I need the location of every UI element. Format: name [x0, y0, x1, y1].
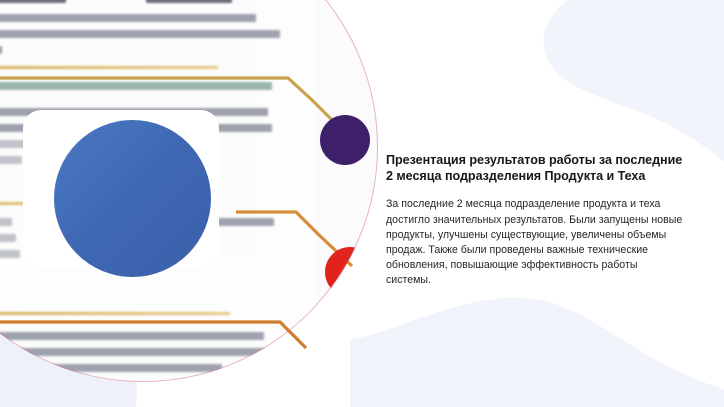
node-clip-mask	[0, 0, 378, 382]
purple-node-circle	[320, 115, 370, 165]
bottom-right-wave-blob	[350, 298, 724, 407]
red-node-circle	[325, 247, 375, 297]
text-column: Презентация результатов работы за послед…	[386, 152, 684, 288]
slide-body-text: За последние 2 месяца подразделение прод…	[386, 197, 684, 288]
presentation-slide: Презентация результатов работы за послед…	[0, 0, 724, 407]
slide-heading: Презентация результатов работы за послед…	[386, 152, 684, 184]
top-right-blob	[544, 0, 724, 162]
left-visual-area	[0, 0, 380, 407]
